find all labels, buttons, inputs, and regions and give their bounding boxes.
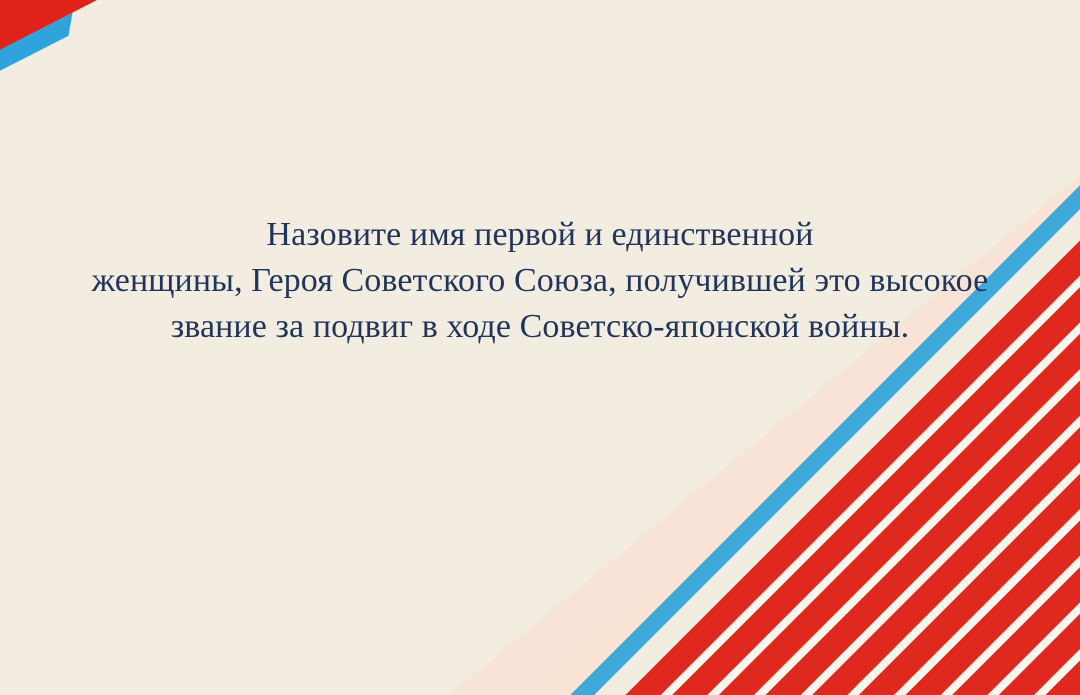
slide-canvas: Назовите имя первой и единственной женщи… [0,0,1080,695]
question-line-3: звание за подвиг в ходе Советско-японско… [0,304,1080,350]
question-line-2: женщины, Героя Советского Союза, получив… [0,258,1080,304]
question-text-block: Назовите имя первой и единственной женщи… [0,212,1080,350]
question-line-1: Назовите имя первой и единственной [0,212,1080,258]
